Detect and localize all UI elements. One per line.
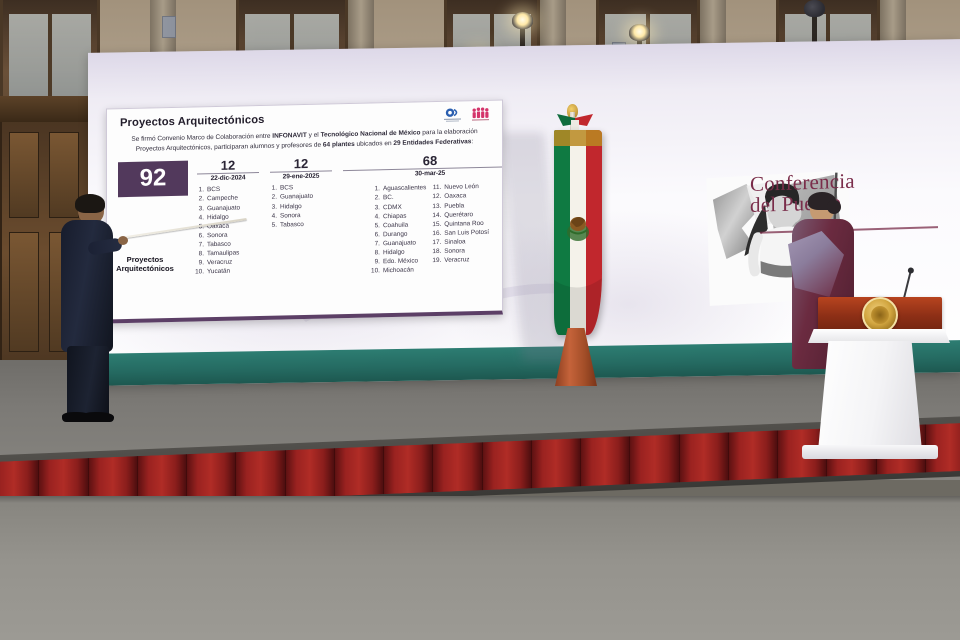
list-item-number: 1. <box>268 184 277 193</box>
list-item-number: 10. <box>371 267 380 276</box>
list-item-number: 2. <box>268 193 277 202</box>
column-batch-2: 12 29-ene-2025 1.BCS2.Guanajuato3.Hidalg… <box>268 156 334 230</box>
list-item-label: Tamaulipas <box>207 249 239 259</box>
column-2-list: 1.BCS2.Guanajuato3.Hidalgo4.Sonora5.Taba… <box>268 183 334 230</box>
list-item-number: 14. <box>432 211 441 220</box>
cabinet-cornice <box>0 96 96 122</box>
intro-prefix: Se firmó Convenio Marco de Colaboración … <box>131 133 272 143</box>
list-item-label: Michoacán <box>383 266 414 276</box>
wall-switch-plate <box>162 16 176 38</box>
list-item-number: 7. <box>195 240 204 249</box>
total-projects-badge: 92 <box>118 160 188 197</box>
list-item: 1.Aguascalientes <box>371 184 426 194</box>
speaker-hair-bun <box>827 200 841 214</box>
list-item-label: Sinaloa <box>444 237 465 247</box>
slide-intro-text: Se firmó Convenio Marco de Colaboración … <box>120 127 489 155</box>
list-item-label: BCS <box>280 184 293 193</box>
column-1-date: 22-dic-2024 <box>195 174 261 182</box>
list-item-number: 8. <box>195 249 204 258</box>
list-item-label: Guanajuato <box>383 238 416 248</box>
list-item-label: Aguascalientes <box>383 184 426 194</box>
intro-mid3: ubicados en <box>355 140 394 148</box>
list-item-number: 3. <box>371 203 380 212</box>
podium-column <box>818 341 922 451</box>
column-1-header: 12 22-dic-2024 <box>195 158 261 183</box>
list-item-number: 4. <box>195 213 204 222</box>
list-item-label: San Luis Potosí <box>444 228 489 238</box>
list-item-label: Tabasco <box>280 220 304 230</box>
list-item: 5.Tabasco <box>268 219 334 230</box>
column-3-lists: 1.Aguascalientes2.BC.3.CDMX4.Chiapas5.Co… <box>341 179 503 277</box>
callout-line2: Arquitectónicos <box>116 264 174 273</box>
intro-bold-infonavit: INFONAVIT <box>272 132 307 140</box>
list-item-number: 9. <box>371 257 380 266</box>
list-item-number: 19. <box>432 256 441 265</box>
list-item-label: Sonora <box>207 231 228 241</box>
list-item: 10.Yucatán <box>195 266 261 277</box>
stage-floor-front <box>0 496 960 640</box>
list-item-label: Guanajuato <box>280 192 313 202</box>
list-item-label: CDMX <box>383 202 402 212</box>
list-item-label: BCS <box>207 185 220 194</box>
list-item-number: 7. <box>371 239 380 248</box>
press-conference-scene: Conferencia del Pueblo <box>0 0 960 640</box>
intro-suffix: : <box>471 138 473 145</box>
list-item-number: 16. <box>432 229 441 238</box>
tecnm-logo <box>471 107 490 122</box>
presenter-pointing <box>58 196 120 428</box>
slide-logos <box>443 107 490 123</box>
presenter-hair <box>75 194 105 213</box>
list-item-number: 2. <box>371 194 380 203</box>
list-item-number: 3. <box>268 202 277 211</box>
list-item-label: Hidalgo <box>280 202 302 212</box>
intro-bold-tecnm: Tecnológico Nacional de México <box>321 129 421 138</box>
mexican-flag <box>543 112 613 387</box>
list-item-number: 2. <box>195 195 204 204</box>
list-item-number: 18. <box>432 247 441 256</box>
column-2-count: 12 <box>268 156 334 171</box>
column-3-list-right: 11.Nuevo León12.Oaxaca13.Puebla14.Querét… <box>432 182 489 274</box>
list-item-number: 5. <box>268 220 277 229</box>
list-item-number: 9. <box>195 258 204 267</box>
column-2-header: 12 29-ene-2025 <box>268 156 334 181</box>
slide-title: Proyectos Arquitectónicos <box>120 109 493 129</box>
column-1-list: 1.BCS2.Campeche3.Guanajuato4.Hidalgo5.Oa… <box>195 184 261 276</box>
list-item-number: 4. <box>371 212 380 221</box>
list-item-number: 6. <box>195 231 204 240</box>
presenter-hand <box>118 236 128 245</box>
podium-base <box>802 445 938 459</box>
list-item-label: Sonora <box>444 246 465 256</box>
list-item: 10.Michoacán <box>371 265 426 275</box>
column-3-list-left: 1.Aguascalientes2.BC.3.CDMX4.Chiapas5.Co… <box>371 184 426 276</box>
list-item-number: 10. <box>195 268 204 277</box>
list-item: 19.Veracruz <box>432 255 489 265</box>
list-item-number: 4. <box>268 211 277 220</box>
list-item-label: Guanajuato <box>207 203 240 213</box>
list-item-number: 12. <box>432 192 441 201</box>
infonavit-logo <box>443 107 462 122</box>
list-item-number: 1. <box>371 185 380 194</box>
list-item-number: 15. <box>432 220 441 229</box>
list-item-label: BC. <box>383 193 394 202</box>
list-item-number: 17. <box>432 238 441 247</box>
list-item-number: 3. <box>195 204 204 213</box>
column-batch-3: 68 30-mar-25 1.Aguascalientes2.BC.3.CDMX… <box>341 152 503 277</box>
podium-with-speaker <box>780 195 960 460</box>
callout-line1: Proyectos <box>127 255 164 264</box>
mexican-national-seal <box>862 297 898 333</box>
list-item-label: Oaxaca <box>444 192 466 202</box>
intro-mid1: y el <box>307 132 321 139</box>
list-item-number: 6. <box>371 230 380 239</box>
column-batch-1: 12 22-dic-2024 1.BCS2.Campeche3.Guanajua… <box>195 158 261 277</box>
list-item-label: Puebla <box>444 201 464 211</box>
column-3-header: 68 30-mar-25 <box>341 152 503 180</box>
list-item-number: 8. <box>371 248 380 257</box>
intro-bold-plantes: 64 plantes <box>323 141 355 149</box>
list-item-number: 13. <box>432 201 441 210</box>
presenter-legs <box>67 346 109 416</box>
intro-bold-entidades: 29 Entidades Federativas <box>393 138 471 147</box>
list-item-label: Yucatán <box>207 267 230 277</box>
podium-ledge <box>808 329 950 343</box>
column-2-date: 29-ene-2025 <box>268 173 334 181</box>
list-item-label: Sonora <box>280 211 301 221</box>
flag-cloth <box>554 130 602 335</box>
list-item-number: 5. <box>371 221 380 230</box>
list-item-number: 11. <box>432 183 441 192</box>
presenter-shoe <box>82 412 114 422</box>
list-item-number: 1. <box>195 186 204 195</box>
column-1-count: 12 <box>195 158 261 173</box>
list-item-label: Veracruz <box>444 255 469 265</box>
list-item-label: Nuevo León <box>444 182 478 192</box>
presentation-slide: Proyectos Arquitectónicos <box>106 99 503 323</box>
